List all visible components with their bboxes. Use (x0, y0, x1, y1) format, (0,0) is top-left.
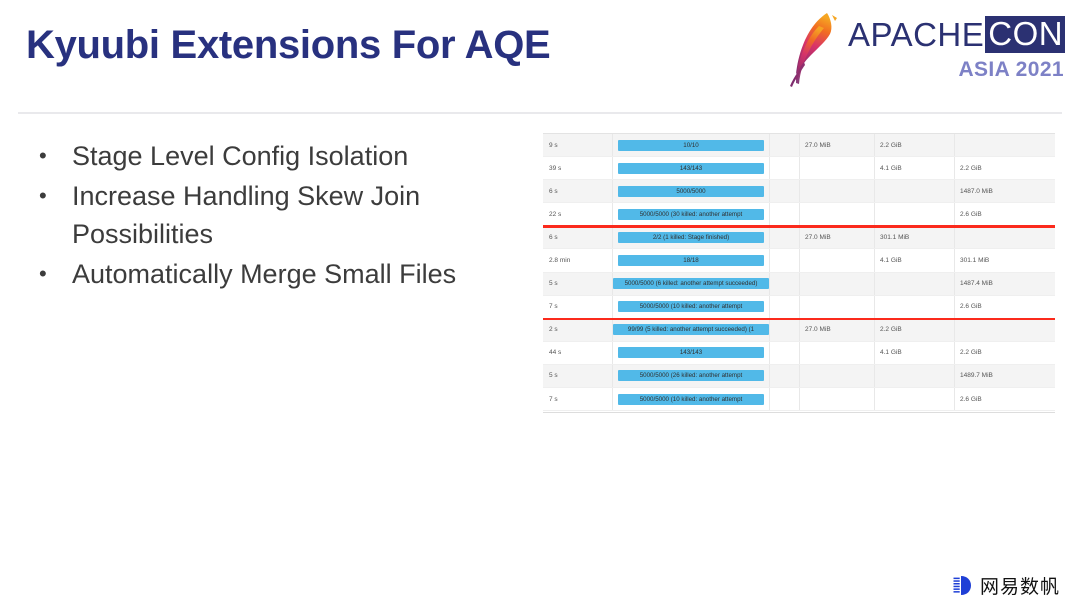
cell-c5: 2.2 GiB (875, 319, 955, 341)
bullet-text: Increase Handling Skew Join Possibilitie… (72, 177, 532, 253)
table-row: 7 s5000/5000 (10 killed: another attempt… (543, 296, 1055, 319)
task-progress-bar: 143/143 (618, 163, 764, 174)
table-row: 5 s5000/5000 (6 killed: another attempt … (543, 273, 1055, 296)
cell-c5 (875, 296, 955, 318)
cell-c3 (770, 365, 800, 387)
task-progress-bar: 5000/5000 (6 killed: another attempt suc… (613, 278, 769, 289)
cell-c5: 301.1 MiB (875, 226, 955, 248)
cell-tasks: 5000/5000 (10 killed: another attempt (613, 388, 770, 410)
bullet-list: • Stage Level Config Isolation • Increas… (32, 137, 532, 295)
bullet-text: Automatically Merge Small Files (72, 255, 532, 293)
cell-duration: 6 s (543, 226, 613, 248)
cell-c5 (875, 388, 955, 410)
cell-c4 (800, 388, 875, 410)
cell-c3 (770, 388, 800, 410)
cell-c5 (875, 365, 955, 387)
apache-text: APACHE (848, 18, 984, 51)
task-progress-bar: 5000/5000 (618, 186, 764, 197)
cell-c5: 4.1 GiB (875, 342, 955, 364)
cell-c6: 2.6 GiB (955, 388, 1055, 410)
spark-stages-table: 9 s10/1027.0 MiB2.2 GiB39 s143/1434.1 Gi… (543, 133, 1055, 413)
cell-c6: 1487.0 MiB (955, 180, 1055, 202)
cell-c4 (800, 203, 875, 225)
table-row: 2 s99/99 (5 killed: another attempt succ… (543, 319, 1055, 342)
table-row: 22 s5000/5000 (30 killed: another attemp… (543, 203, 1055, 226)
cell-c4 (800, 249, 875, 271)
cell-tasks: 18/18 (613, 249, 770, 271)
cell-c4: 27.0 MiB (800, 319, 875, 341)
bullet-text: Stage Level Config Isolation (72, 137, 532, 175)
apachecon-logo: APACHECON ASIA 2021 (786, 8, 1066, 90)
cell-c4: 27.0 MiB (800, 134, 875, 156)
cell-c6: 2.2 GiB (955, 342, 1055, 364)
table-row: 6 s2/2 (1 killed: Stage finished)27.0 Mi… (543, 226, 1055, 249)
cell-duration: 7 s (543, 296, 613, 318)
cell-c4 (800, 342, 875, 364)
cell-duration: 2.8 min (543, 249, 613, 271)
task-progress-bar: 18/18 (618, 255, 764, 266)
cell-c3 (770, 203, 800, 225)
cell-tasks: 5000/5000 (6 killed: another attempt suc… (613, 273, 770, 295)
cell-tasks: 5000/5000 (613, 180, 770, 202)
stage-group-separator (543, 318, 1055, 321)
netease-shufan-logo: 网易数帆 (952, 573, 1060, 597)
cell-c3 (770, 273, 800, 295)
task-progress-bar: 5000/5000 (30 killed: another attempt (618, 209, 764, 220)
task-progress-bar: 5000/5000 (26 killed: another attempt (618, 370, 764, 381)
task-progress-bar: 143/143 (618, 347, 764, 358)
cell-duration: 5 s (543, 365, 613, 387)
task-progress-bar: 5000/5000 (10 killed: another attempt (618, 394, 764, 405)
cell-c4: 27.0 MiB (800, 226, 875, 248)
cell-c6: 1487.4 MiB (955, 273, 1055, 295)
task-progress-bar: 99/99 (5 killed: another attempt succeed… (613, 324, 769, 335)
con-text: CON (985, 16, 1065, 53)
cell-c6: 2.6 GiB (955, 203, 1055, 225)
bullet-marker-icon: • (32, 255, 72, 293)
cell-c4 (800, 273, 875, 295)
cell-c3 (770, 180, 800, 202)
table-row: 6 s5000/50001487.0 MiB (543, 180, 1055, 203)
cell-c3 (770, 226, 800, 248)
task-progress-bar: 5000/5000 (10 killed: another attempt (618, 301, 764, 312)
cell-duration: 22 s (543, 203, 613, 225)
cell-c6: 1489.7 MiB (955, 365, 1055, 387)
cell-c4 (800, 296, 875, 318)
cell-duration: 44 s (543, 342, 613, 364)
cell-c5: 2.2 GiB (875, 134, 955, 156)
cell-tasks: 5000/5000 (30 killed: another attempt (613, 203, 770, 225)
table-row: 9 s10/1027.0 MiB2.2 GiB (543, 134, 1055, 157)
table-row: 44 s143/1434.1 GiB2.2 GiB (543, 342, 1055, 365)
cell-tasks: 2/2 (1 killed: Stage finished) (613, 226, 770, 248)
table-row: 5 s5000/5000 (26 killed: another attempt… (543, 365, 1055, 388)
list-item: • Increase Handling Skew Join Possibilit… (32, 177, 532, 253)
cell-duration: 6 s (543, 180, 613, 202)
cell-c6 (955, 134, 1055, 156)
cell-tasks: 5000/5000 (26 killed: another attempt (613, 365, 770, 387)
cell-tasks: 99/99 (5 killed: another attempt succeed… (613, 319, 770, 341)
apache-feather-icon (786, 10, 842, 88)
cell-c5 (875, 180, 955, 202)
apachecon-wordmark: APACHECON (848, 16, 1065, 52)
cell-c3 (770, 134, 800, 156)
cell-c6: 2.2 GiB (955, 157, 1055, 179)
cell-c6: 2.6 GiB (955, 296, 1055, 318)
table-row: 2.8 min18/184.1 GiB301.1 MiB (543, 249, 1055, 272)
apachecon-edition-label: ASIA 2021 (958, 58, 1064, 82)
bullet-marker-icon: • (32, 177, 72, 215)
cell-tasks: 5000/5000 (10 killed: another attempt (613, 296, 770, 318)
task-progress-bar: 10/10 (618, 140, 764, 151)
cell-c4 (800, 157, 875, 179)
bullet-marker-icon: • (32, 137, 72, 175)
cell-tasks: 10/10 (613, 134, 770, 156)
cell-c5: 4.1 GiB (875, 249, 955, 271)
table-row: 39 s143/1434.1 GiB2.2 GiB (543, 157, 1055, 180)
cell-c3 (770, 319, 800, 341)
list-item: • Automatically Merge Small Files (32, 255, 532, 293)
cell-c4 (800, 365, 875, 387)
cell-duration: 39 s (543, 157, 613, 179)
cell-duration: 9 s (543, 134, 613, 156)
netease-shufan-mark-icon (952, 575, 972, 596)
page-title: Kyuubi Extensions For AQE (26, 23, 550, 68)
cell-duration: 5 s (543, 273, 613, 295)
cell-c6 (955, 319, 1055, 341)
cell-duration: 7 s (543, 388, 613, 410)
stage-group-separator (543, 225, 1055, 228)
table-row: 7 s5000/5000 (10 killed: another attempt… (543, 388, 1055, 411)
cell-tasks: 143/143 (613, 157, 770, 179)
header-divider (18, 112, 1062, 114)
cell-tasks: 143/143 (613, 342, 770, 364)
cell-c3 (770, 157, 800, 179)
cell-c4 (800, 180, 875, 202)
netease-shufan-label: 网易数帆 (980, 572, 1060, 599)
cell-c6: 301.1 MiB (955, 249, 1055, 271)
cell-c3 (770, 342, 800, 364)
cell-c3 (770, 296, 800, 318)
cell-c5 (875, 273, 955, 295)
cell-c6 (955, 226, 1055, 248)
list-item: • Stage Level Config Isolation (32, 137, 532, 175)
cell-c5 (875, 203, 955, 225)
cell-c5: 4.1 GiB (875, 157, 955, 179)
cell-duration: 2 s (543, 319, 613, 341)
task-progress-bar: 2/2 (1 killed: Stage finished) (618, 232, 764, 243)
cell-c3 (770, 249, 800, 271)
